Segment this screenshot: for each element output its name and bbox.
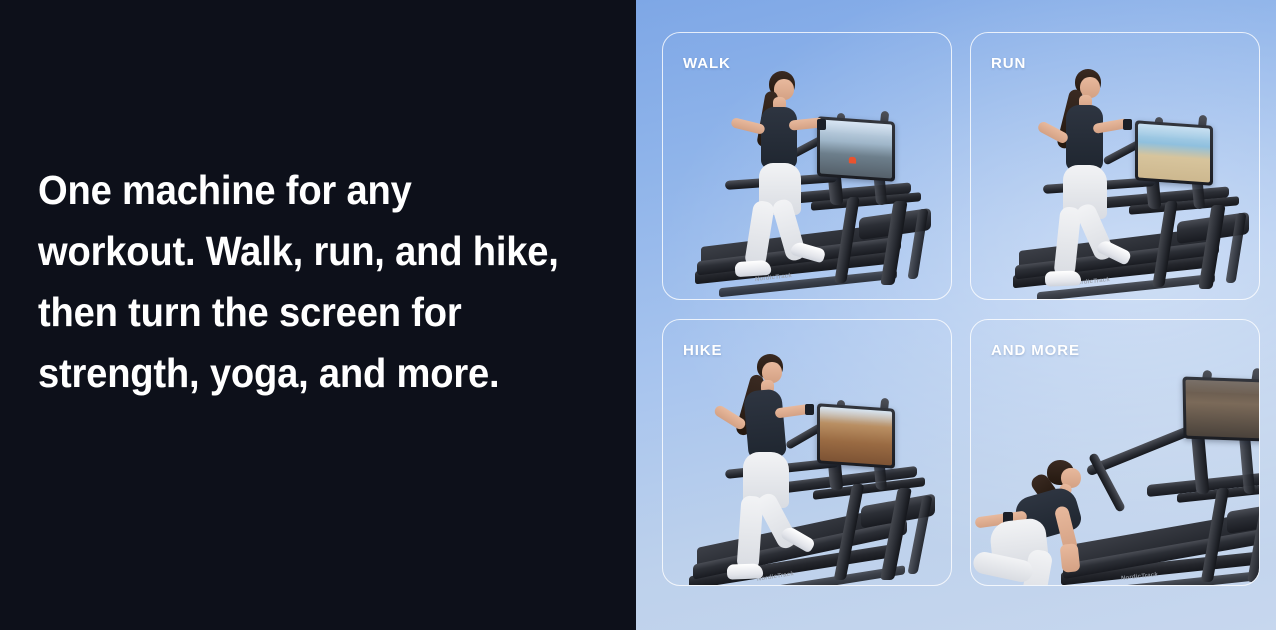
person-hiking [709,350,859,586]
run-scene: NordicTrack [971,33,1259,299]
workout-card-hike[interactable]: NordicTrack [662,319,952,587]
card-label-hike: HIKE [683,342,722,359]
workout-card-grid: NordicTrack [662,32,1260,586]
person-running [1029,67,1179,299]
gallery-panel: NordicTrack [636,0,1276,630]
walk-scene: NordicTrack [663,33,951,299]
person-floor-stretch [973,452,1173,586]
page-title: One machine for any workout. Walk, run, … [38,160,559,404]
console-screen-and-more [1186,379,1259,438]
card-label-and-more: AND MORE [991,342,1080,359]
and-more-scene: NordicTrack [971,320,1259,586]
card-label-walk: WALK [683,55,731,72]
hike-scene: NordicTrack [663,320,951,586]
card-label-run: RUN [991,55,1026,72]
workout-card-and-more[interactable]: NordicTrack [970,319,1260,587]
workout-card-walk[interactable]: NordicTrack [662,32,952,300]
person-walking [725,69,865,299]
workout-card-run[interactable]: NordicTrack [970,32,1260,300]
headline-panel: One machine for any workout. Walk, run, … [0,0,636,630]
promo-banner: One machine for any workout. Walk, run, … [0,0,1276,630]
